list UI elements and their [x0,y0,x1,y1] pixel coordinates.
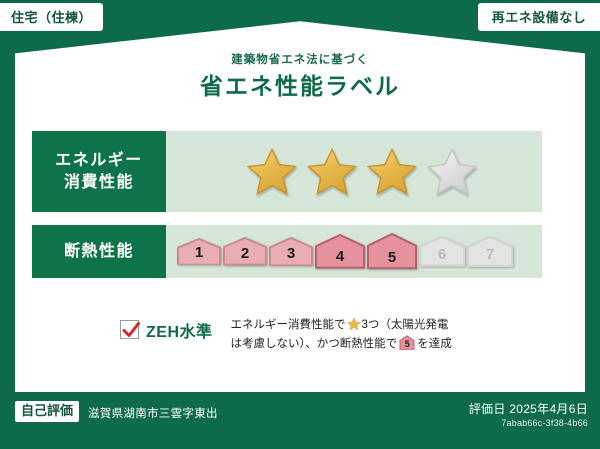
renewable-equipment-tag-label: 再エネ設備なし [492,11,587,24]
inline-grade-badge: 5 [399,335,415,350]
insulation-grade-badge: 2 [223,237,267,266]
zeh-desc-part2: は考慮しない）、かつ断熱性能で [231,338,398,350]
zeh-standard-block: ZEH水準 エネルギー消費性能で3つ（太陽光発電 は考慮しない）、かつ断熱性能で… [120,316,540,354]
energy-performance-label-line2: 消費性能 [64,172,134,194]
building-type-tag: 住宅（住棟） [0,3,103,31]
energy-performance-row: エネルギー 消費性能 [32,131,542,212]
insulation-performance-label-line1: 断熱性能 [64,241,134,263]
evaluation-date: 評価日 2025年4月6日 [469,400,588,417]
inline-star-icon [347,317,361,331]
insulation-performance-label: 断熱性能 [32,225,166,278]
page-title: 省エネ性能ラベル [0,72,600,102]
insulation-grade-badge: 3 [269,237,313,266]
insulation-grade-badge: 1 [177,238,221,266]
insulation-grade-value: 1 [195,244,203,265]
energy-performance-label-line1: エネルギー [55,150,143,172]
insulation-grade-badge: 4 [315,234,365,269]
insulation-grade-value: 2 [241,245,249,266]
energy-performance-label-card: 住宅（住棟） 再エネ設備なし 建築物省エネ法に基づく 省エネ性能ラベル エネルギ… [0,0,600,449]
renewable-equipment-tag: 再エネ設備なし [478,3,600,31]
insulation-grade-badge: 5 [367,233,417,269]
building-type-tag-label: 住宅（住棟） [11,11,92,24]
insulation-grade-value: 7 [486,246,494,267]
insulation-grade-value: 4 [336,248,344,269]
star-icon-filled [366,146,418,198]
star-icon-filled [246,146,298,198]
title-block: 建築物省エネ法に基づく 省エネ性能ラベル [0,54,600,102]
insulation-grade-value: 3 [287,245,295,266]
energy-performance-rating [166,131,542,212]
zeh-desc-star-count: 3つ（太陽光発電 [362,319,449,331]
zeh-checkbox[interactable] [120,320,139,339]
insulation-grade-value: 5 [388,249,396,270]
zeh-standard-description: エネルギー消費性能で3つ（太陽光発電 は考慮しない）、かつ断熱性能で5を達成 [231,316,540,354]
inline-grade-value: 5 [399,335,415,350]
zeh-desc-part3: を達成 [417,338,452,350]
energy-performance-label: エネルギー 消費性能 [32,131,166,212]
self-evaluation-badge: 自己評価 [15,401,79,422]
insulation-performance-row: 断熱性能 1234567 [32,225,542,278]
property-address: 滋賀県湖南市三雲字東出 [88,405,218,421]
insulation-grade-badge: 6 [419,236,465,267]
insulation-grade-badge: 7 [467,236,513,267]
star-icon-filled [306,146,358,198]
label-identifier: 7abab66c-3f38-4b66 [501,418,588,428]
zeh-desc-part1: エネルギー消費性能で [231,319,346,331]
zeh-standard-title: ZEH水準 [146,318,213,342]
insulation-grade-value: 6 [438,246,446,267]
check-icon [120,319,142,341]
title-subtitle: 建築物省エネ法に基づく [0,54,600,68]
star-icon-empty [426,146,478,198]
insulation-performance-rating: 1234567 [166,225,542,278]
footer-bar: 自己評価 滋賀県湖南市三雲字東出 評価日 2025年4月6日 7abab66c-… [0,392,600,449]
